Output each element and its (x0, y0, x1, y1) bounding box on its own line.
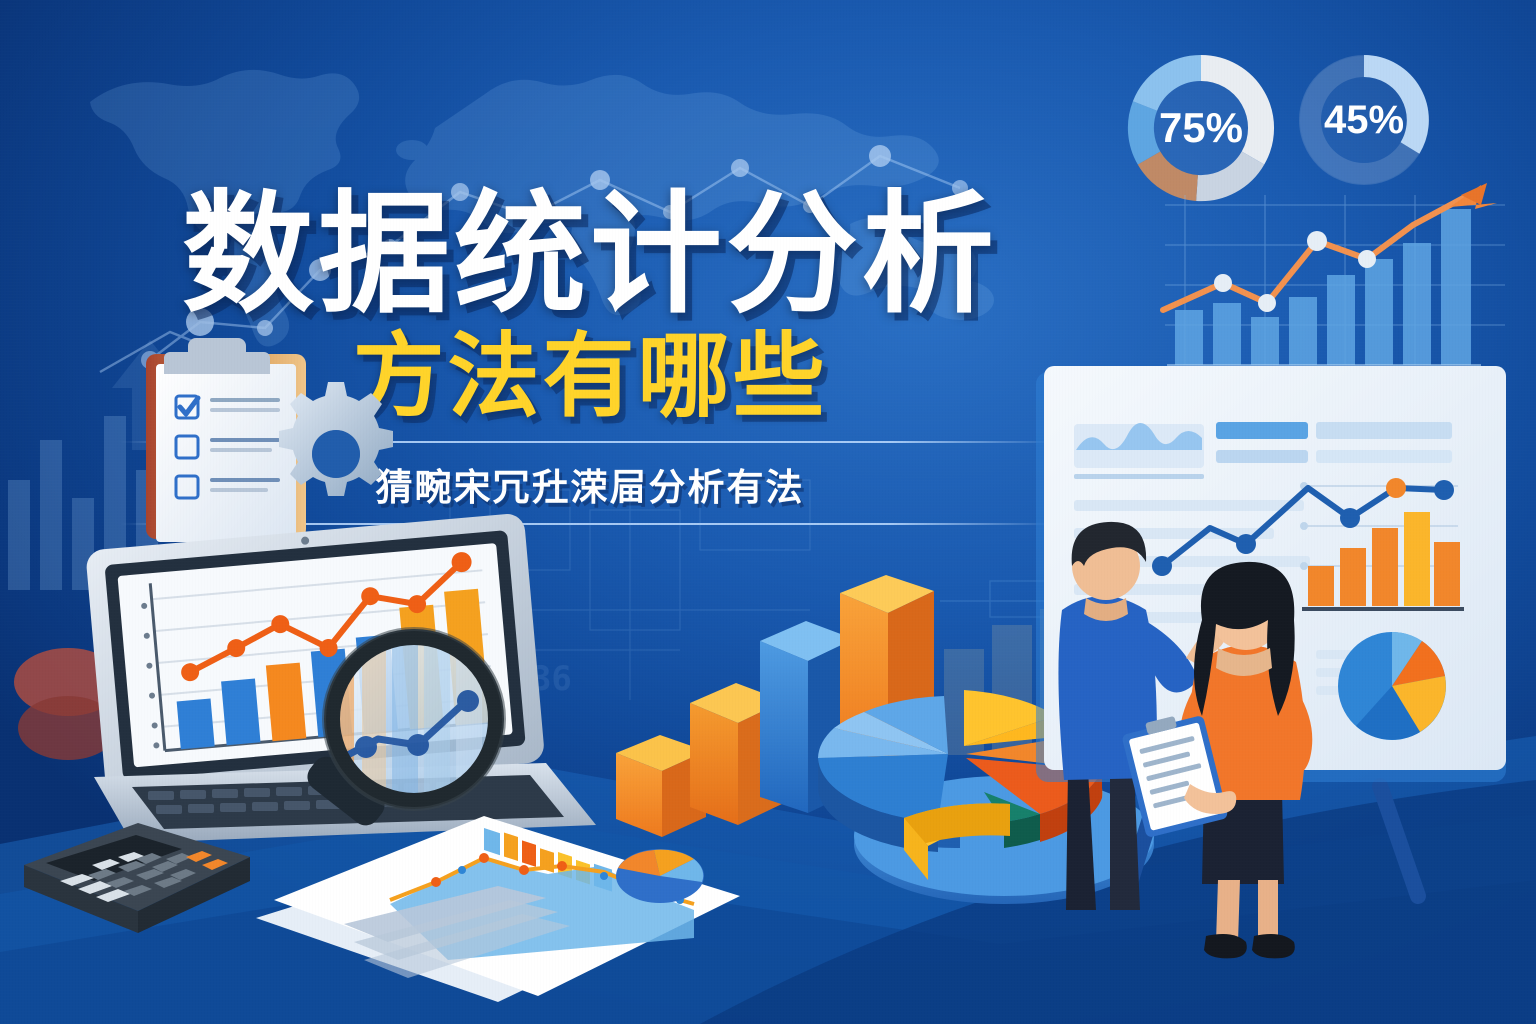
pie-slice-lightblue (818, 696, 948, 758)
gear-icon (279, 382, 393, 496)
gauge-75-label: 75% (1159, 104, 1243, 151)
poster-canvas: 75% 45% (0, 0, 1536, 1024)
gauge-45-label: 45% (1324, 98, 1404, 142)
donut-gauge-45: 45% (1300, 56, 1428, 184)
people-group (1048, 470, 1408, 930)
analyst-female (1120, 562, 1312, 958)
page-title: 数据统计分析 (0, 188, 1180, 323)
calculator (18, 795, 258, 945)
checklist-clipboard (118, 336, 418, 551)
